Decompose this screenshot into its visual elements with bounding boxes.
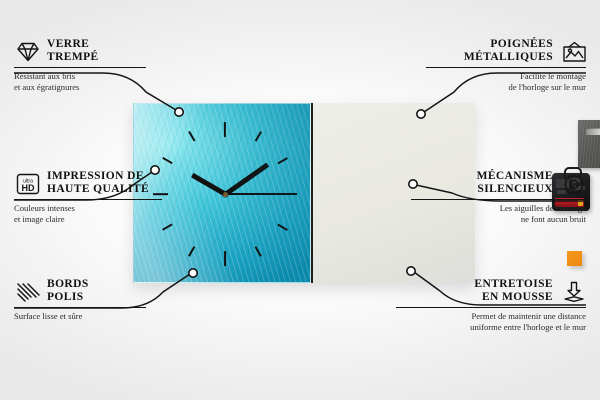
gear-icon (560, 172, 586, 194)
callout-desc-line2: et image claire (14, 214, 174, 225)
callout-divider (426, 67, 586, 68)
diamond-icon (14, 40, 40, 62)
callout-header: POIGNÉES MÉTALLIQUES (426, 38, 586, 64)
clock-tick (188, 131, 195, 141)
foam-spacer-part (567, 251, 582, 266)
clock-tick (255, 246, 262, 256)
callout-desc-line1: Les aiguilles de l'horloge (411, 203, 586, 214)
callout-divider (396, 307, 586, 308)
picture-hanger-icon (560, 40, 586, 62)
clock-tick (255, 131, 262, 141)
callout-desc-line2: de l'horloge sur le mur (426, 82, 586, 93)
ultra-hd-icon: ultra HD (14, 172, 40, 194)
polished-edges-icon (14, 280, 40, 302)
callout-mecanisme-silencieux[interactable]: MÉCANISME SILENCIEUX Les aiguilles de l'… (411, 170, 586, 224)
callout-title: BORDS POLIS (47, 278, 89, 304)
callout-header: ultra HD IMPRESSION DE HAUTE QUALITÉ (14, 170, 174, 196)
callout-divider (14, 307, 146, 308)
clock-tick (188, 246, 195, 256)
callout-desc-line1: Résistant aux bris (14, 71, 164, 82)
callout-title: MÉCANISME SILENCIEUX (477, 170, 553, 196)
clock-tick (224, 251, 226, 266)
callout-divider (14, 199, 162, 200)
callout-desc-line1: Surface lisse et sûre (14, 311, 164, 322)
callout-header: ENTRETOISE EN MOUSSE (396, 278, 586, 304)
callout-header: MÉCANISME SILENCIEUX (411, 170, 586, 196)
callout-title: ENTRETOISE EN MOUSSE (474, 278, 553, 304)
clock-tick (282, 193, 297, 195)
clock-tick (277, 224, 287, 231)
clock-minute-hand (224, 162, 269, 196)
callout-divider (14, 67, 146, 68)
clock-second-hand (225, 193, 285, 195)
foam-spacer-icon (560, 280, 586, 302)
callout-desc-line2: et aux égratignures (14, 82, 164, 93)
clock-hour-hand (191, 173, 226, 196)
callout-title: IMPRESSION DE HAUTE QUALITÉ (47, 170, 149, 196)
clock-tick (224, 122, 226, 137)
callout-desc-line1: Facilite le montage (426, 71, 586, 82)
callout-verre-trempe[interactable]: VERRE TREMPÉ Résistant aux bris et aux é… (14, 38, 164, 92)
callout-desc-line2: ne font aucun bruit (411, 214, 586, 225)
callout-entretoise-en-mousse[interactable]: ENTRETOISE EN MOUSSE Permet de maintenir… (396, 278, 586, 332)
callout-header: VERRE TREMPÉ (14, 38, 164, 64)
callout-desc-line1: Couleurs intenses (14, 203, 174, 214)
callout-bords-polis[interactable]: BORDS POLIS Surface lisse et sûre (14, 278, 164, 322)
callout-title: VERRE TREMPÉ (47, 38, 99, 64)
callout-title: POIGNÉES MÉTALLIQUES (464, 38, 553, 64)
callout-desc-line1: Permet de maintenir une distance (396, 311, 586, 322)
clock-tick (162, 224, 172, 231)
hanger-slot (586, 128, 600, 135)
svg-text:HD: HD (22, 183, 35, 193)
callout-header: BORDS POLIS (14, 278, 164, 304)
callout-desc-line2: uniforme entre l'horloge et le mur (396, 322, 586, 333)
callout-divider (411, 199, 586, 200)
clock-tick (162, 157, 172, 164)
callout-impression-haute-qualite[interactable]: ultra HD IMPRESSION DE HAUTE QUALITÉ Cou… (14, 170, 174, 224)
metal-hanger-plate (578, 120, 600, 168)
infographic-canvas: VERRE TREMPÉ Résistant aux bris et aux é… (0, 0, 600, 400)
clock-tick (277, 157, 287, 164)
clock-hub (223, 192, 228, 197)
callout-poignees-metalliques[interactable]: POIGNÉES MÉTALLIQUES Facilite le montage… (426, 38, 586, 92)
